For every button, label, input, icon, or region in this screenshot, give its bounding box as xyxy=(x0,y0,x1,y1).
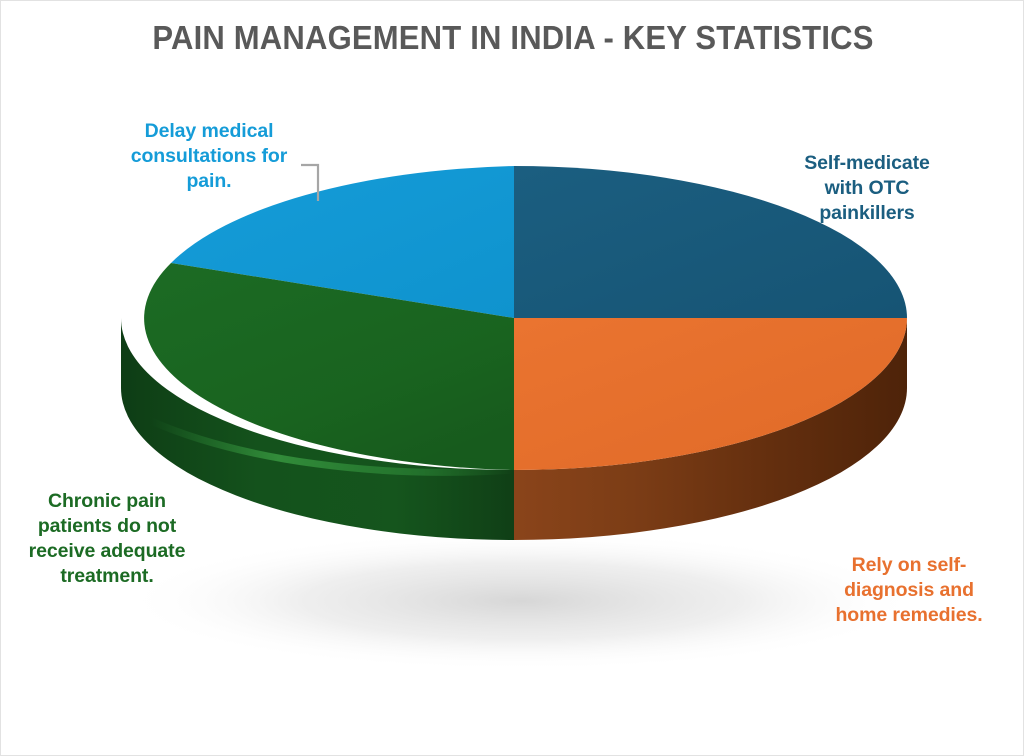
label-line: Rely on self- xyxy=(813,553,1005,578)
slice-label-self-diagnosis: Rely on self- diagnosis and home remedie… xyxy=(813,553,1005,628)
label-line: Delay medical xyxy=(109,119,309,144)
label-line: Chronic pain xyxy=(9,489,205,514)
label-line: receive adequate xyxy=(9,539,205,564)
label-line: pain. xyxy=(109,169,309,194)
slice-label-chronic-pain: Chronic pain patients do not receive ade… xyxy=(9,489,205,589)
pie-chart xyxy=(1,1,1024,756)
label-line: painkillers xyxy=(769,201,965,226)
label-line: diagnosis and xyxy=(813,578,1005,603)
label-line: consultations for xyxy=(109,144,309,169)
pie-chart-svg xyxy=(1,1,1024,756)
label-line: patients do not xyxy=(9,514,205,539)
slice-label-self-medicate: Self-medicate with OTC painkillers xyxy=(769,151,965,226)
label-line: treatment. xyxy=(9,564,205,589)
label-line: with OTC xyxy=(769,176,965,201)
label-line: Self-medicate xyxy=(769,151,965,176)
label-line: home remedies. xyxy=(813,603,1005,628)
slice-label-delay-consultations: Delay medical consultations for pain. xyxy=(109,119,309,194)
pie-drop-shadow xyxy=(121,531,921,671)
chart-canvas: PAIN MANAGEMENT IN INDIA - KEY STATISTIC… xyxy=(0,0,1024,756)
